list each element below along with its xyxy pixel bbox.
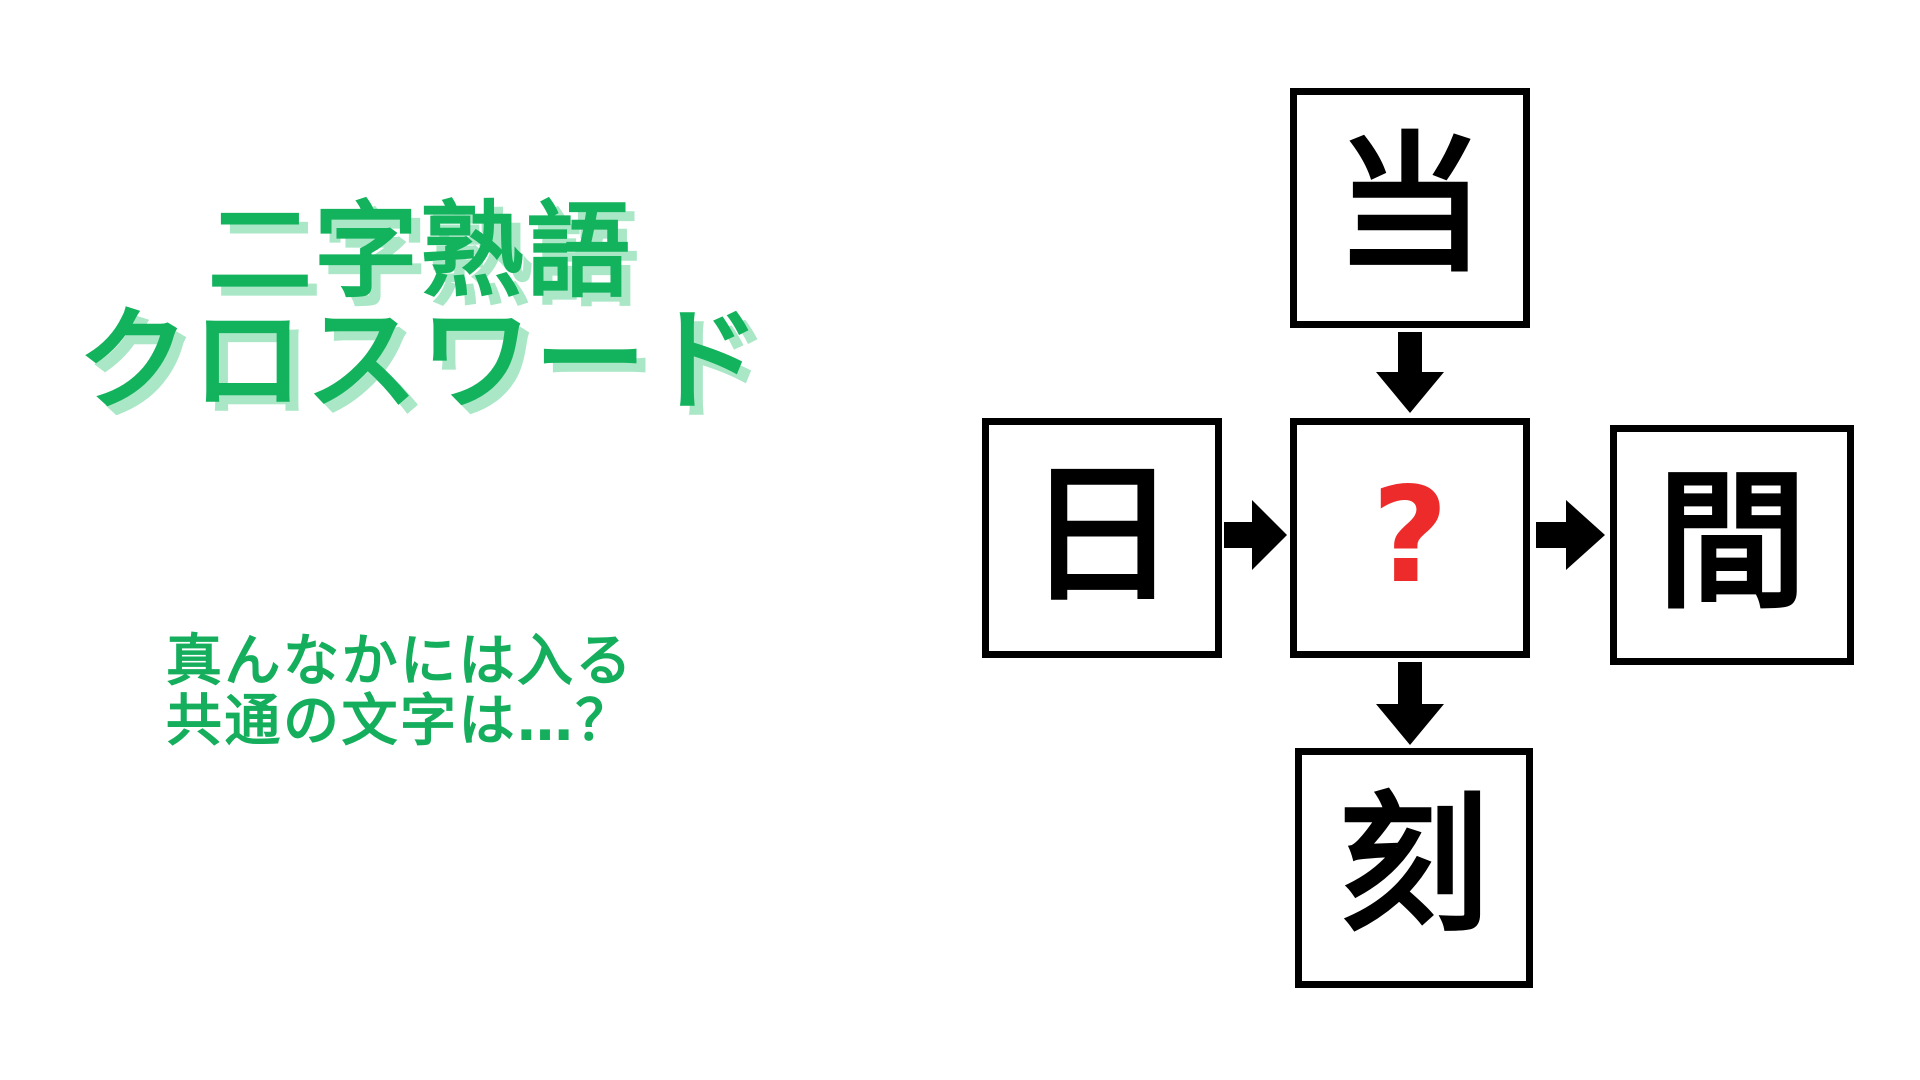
title-block: 二字熟語 クロスワード (0, 196, 840, 421)
puzzle-cell-left-kanji: 日 (1027, 461, 1177, 611)
title-line-2: クロスワード (0, 302, 840, 421)
puzzle-cell-right-kanji: 間 (1657, 468, 1807, 618)
arrow-down-icon (1374, 662, 1446, 746)
crossword-puzzle: 当 日 ? 間 刻 (960, 60, 1900, 1020)
puzzle-cell-top-kanji: 当 (1335, 131, 1485, 281)
question-mark-icon: ? (1372, 470, 1449, 602)
subtitle-line-2: 共通の文字は…？ (0, 692, 800, 752)
title-line-1: 二字熟語 (0, 196, 840, 306)
puzzle-cell-right: 間 (1610, 425, 1854, 665)
subtitle-block: 真んなかには入る 共通の文字は…？ (0, 632, 800, 753)
puzzle-cell-bottom-kanji: 刻 (1339, 791, 1489, 941)
puzzle-cell-center-unknown[interactable]: ? (1290, 418, 1530, 658)
slide-canvas: 二字熟語 クロスワード 真んなかには入る 共通の文字は…？ 当 日 ? 間 刻 (0, 0, 1920, 1080)
puzzle-cell-left: 日 (982, 418, 1222, 658)
arrow-down-icon (1374, 332, 1446, 414)
arrow-right-icon (1224, 498, 1288, 572)
puzzle-cell-top: 当 (1290, 88, 1530, 328)
arrow-right-icon (1536, 498, 1606, 572)
puzzle-cell-bottom: 刻 (1295, 748, 1533, 988)
subtitle-line-1: 真んなかには入る (0, 632, 800, 692)
